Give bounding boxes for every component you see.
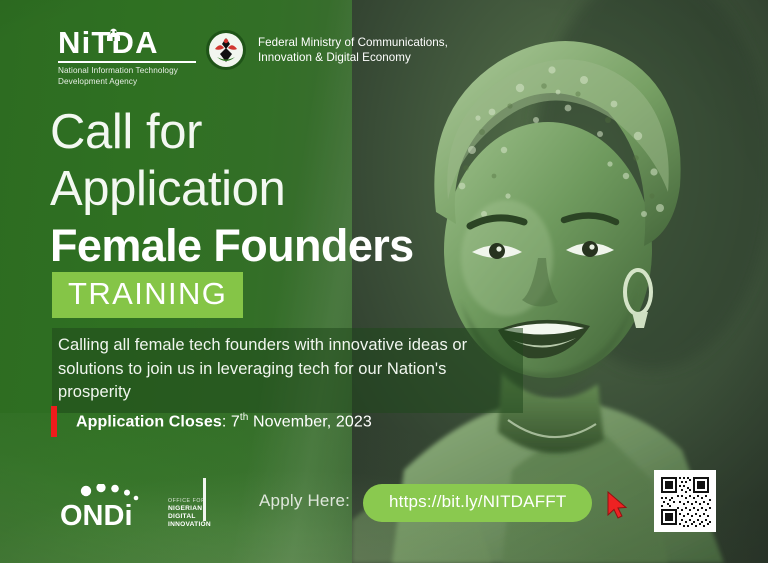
headline-block: Call for Application Female Founders — [50, 104, 520, 272]
ondi-wordmark: ONDi — [60, 484, 164, 530]
deadline-text: Application Closes: 7th November, 2023 — [76, 412, 372, 431]
qr-code-icon[interactable] — [654, 470, 716, 532]
federal-ministry-block: Federal Ministry of Communications, Inno… — [205, 29, 448, 71]
deadline-day: 7 — [231, 413, 240, 430]
description-text: Calling all female tech founders with in… — [58, 334, 513, 405]
deadline-label: Application Closes — [76, 413, 222, 430]
ministry-name: Federal Ministry of Communications, Inno… — [258, 35, 448, 66]
poster-canvas: NiTDA National Information Technology De… — [0, 0, 768, 563]
description-panel: Calling all female tech founders with in… — [52, 328, 523, 413]
nitda-divider — [58, 61, 196, 63]
deadline-month-year: November, 2023 — [248, 413, 371, 430]
ministry-name-line1: Federal Ministry of Communications, — [258, 35, 448, 51]
application-url-text: https://bit.ly/NITDAFFT — [389, 492, 566, 511]
poster-header: NiTDA National Information Technology De… — [0, 0, 768, 92]
apply-here-label: Apply Here: — [259, 491, 350, 511]
nitda-logo: NiTDA National Information Technology De… — [58, 27, 208, 87]
headline-line-2: Application — [50, 161, 520, 218]
svg-text:ONDi: ONDi — [60, 500, 133, 530]
ministry-name-line2: Innovation & Digital Economy — [258, 50, 448, 66]
poster-footer: ONDi OFFICE FOR NIGERIAN DIGITAL INNOVAT… — [0, 463, 768, 563]
headline-line-3: Female Founders — [50, 220, 520, 272]
footer-divider — [203, 478, 206, 521]
training-badge-label: TRAINING — [68, 276, 227, 311]
deadline-block: Application Closes: 7th November, 2023 — [51, 406, 372, 437]
ondi-logo: ONDi OFFICE FOR NIGERIAN DIGITAL INNOVAT… — [60, 484, 211, 530]
application-url-button[interactable]: https://bit.ly/NITDAFFT — [363, 484, 592, 522]
headline-line-1: Call for — [50, 104, 520, 161]
training-badge: TRAINING — [52, 272, 243, 318]
nitda-crest-icon — [105, 16, 122, 30]
deadline-accent-bar — [51, 406, 57, 437]
ondi-tagline-line3: INNOVATION — [168, 521, 211, 529]
nigeria-coat-of-arms-icon — [205, 29, 247, 71]
nitda-wordmark: NiTDA — [58, 27, 208, 58]
mouse-cursor-icon — [606, 491, 628, 519]
nitda-subtitle: National Information Technology Developm… — [58, 66, 203, 87]
deadline-separator: : — [222, 413, 231, 430]
